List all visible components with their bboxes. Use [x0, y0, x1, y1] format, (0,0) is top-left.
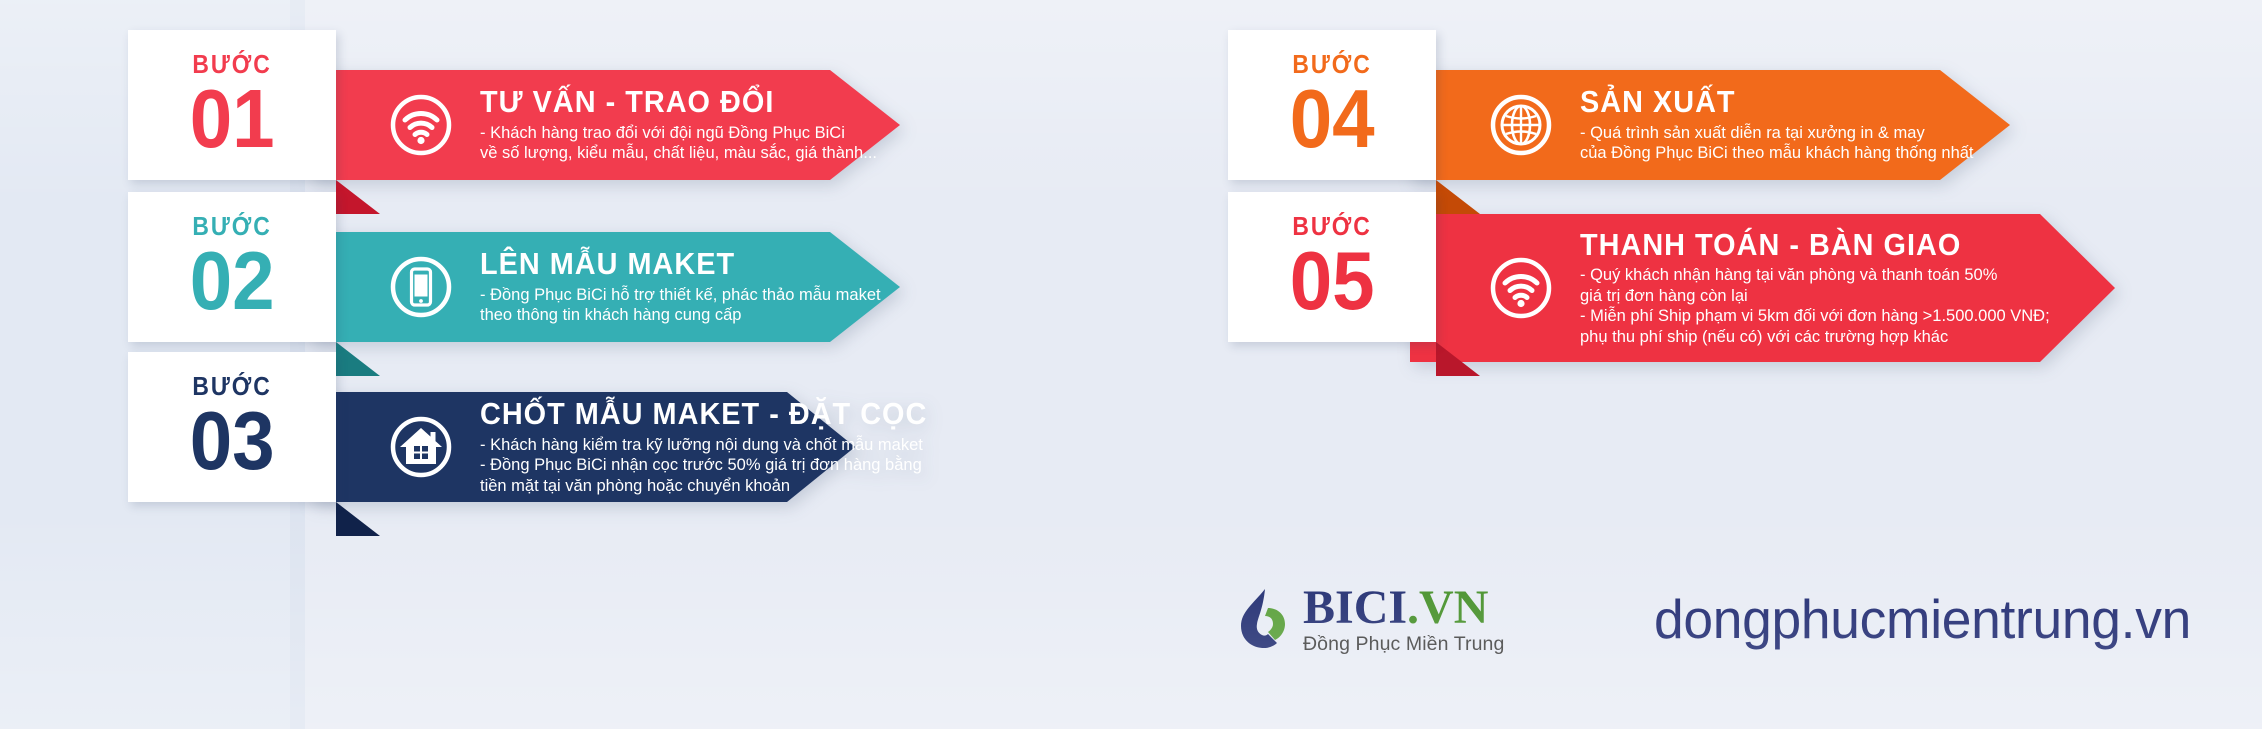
- step-05-banner: THANH TOÁN - BÀN GIAO - Quý khách nhận h…: [1410, 214, 2115, 362]
- step-04-badge-number: 04: [1290, 77, 1375, 160]
- step-02-badge-number: 02: [190, 239, 275, 322]
- step-05-title: THANH TOÁN - BÀN GIAO: [1580, 229, 2017, 262]
- wifi-icon: [1488, 255, 1554, 321]
- step-03-ribbon-fold: [336, 502, 380, 536]
- step-02-banner: LÊN MẪU MAKET - Đồng Phục BiCi hỗ trợ th…: [310, 232, 900, 342]
- step-04-badge: BƯỚC 04: [1228, 30, 1436, 180]
- wifi-icon: [388, 92, 454, 158]
- logo-secondary-word: .VN: [1407, 581, 1488, 634]
- step-02-badge: BƯỚC 02: [128, 192, 336, 342]
- logo-primary-word: BICI: [1303, 581, 1407, 634]
- step-01-description: - Khách hàng trao đổi với đội ngũ Đồng P…: [480, 123, 877, 164]
- step-03-badge: BƯỚC 03: [128, 352, 336, 502]
- step-05-description: - Quý khách nhận hàng tại văn phòng và t…: [1580, 265, 2050, 347]
- step-01-banner: TƯ VẤN - TRAO ĐỔI - Khách hàng trao đổi …: [310, 70, 900, 180]
- step-02-ribbon-fold: [336, 342, 380, 376]
- step-04-title: SẢN XUẤT: [1580, 86, 1946, 119]
- step-05-badge-number: 05: [1290, 239, 1375, 322]
- globe-icon: [1488, 92, 1554, 158]
- step-01-badge-number: 01: [190, 77, 275, 160]
- step-03-description: - Khách hàng kiểm tra kỹ lưỡng nội dung …: [480, 435, 961, 496]
- step-02-texts: LÊN MẪU MAKET - Đồng Phục BiCi hỗ trợ th…: [480, 248, 881, 325]
- house-icon: [388, 414, 454, 480]
- step-01-texts: TƯ VẤN - TRAO ĐỔI - Khách hàng trao đổi …: [480, 86, 877, 163]
- step-05-badge: BƯỚC 05: [1228, 192, 1436, 342]
- logo-wordmark: BICI.VN: [1303, 584, 1504, 632]
- mobile-phone-icon: [388, 254, 454, 320]
- bici-logo-text: BICI.VN Đồng Phục Miền Trung: [1303, 584, 1504, 655]
- step-01-title: TƯ VẤN - TRAO ĐỔI: [480, 86, 849, 119]
- step-03-badge-number: 03: [190, 399, 275, 482]
- step-03-banner: CHỐT MẪU MAKET - ĐẶT CỌC - Khách hàng ki…: [310, 392, 855, 502]
- logo-tagline: Đồng Phục Miền Trung: [1303, 635, 1504, 655]
- footer: BICI.VN Đồng Phục Miền Trung dongphucmie…: [1235, 584, 2208, 655]
- step-02-title: LÊN MẪU MAKET: [480, 248, 853, 281]
- step-03-texts: CHỐT MẪU MAKET - ĐẶT CỌC - Khách hàng ki…: [480, 398, 961, 496]
- step-05-texts: THANH TOÁN - BÀN GIAO - Quý khách nhận h…: [1580, 229, 2050, 347]
- bici-logo-mark: [1235, 586, 1295, 652]
- step-03-title: CHỐT MẪU MAKET - ĐẶT CỌC: [480, 398, 927, 431]
- step-04-description: - Quá trình sản xuất diễn ra tại xưởng i…: [1580, 123, 1974, 164]
- step-04-ribbon-fold: [1436, 180, 1480, 214]
- step-04-texts: SẢN XUẤT - Quá trình sản xuất diễn ra tạ…: [1580, 86, 1974, 163]
- step-04-banner: SẢN XUẤT - Quá trình sản xuất diễn ra tạ…: [1410, 70, 2010, 180]
- step-01-badge: BƯỚC 01: [128, 30, 336, 180]
- step-05-ribbon-fold: [1436, 342, 1480, 376]
- step-02-description: - Đồng Phục BiCi hỗ trợ thiết kế, phác t…: [480, 285, 881, 326]
- step-01-ribbon-fold: [336, 180, 380, 214]
- website-url[interactable]: dongphucmientrung.vn: [1654, 587, 2191, 651]
